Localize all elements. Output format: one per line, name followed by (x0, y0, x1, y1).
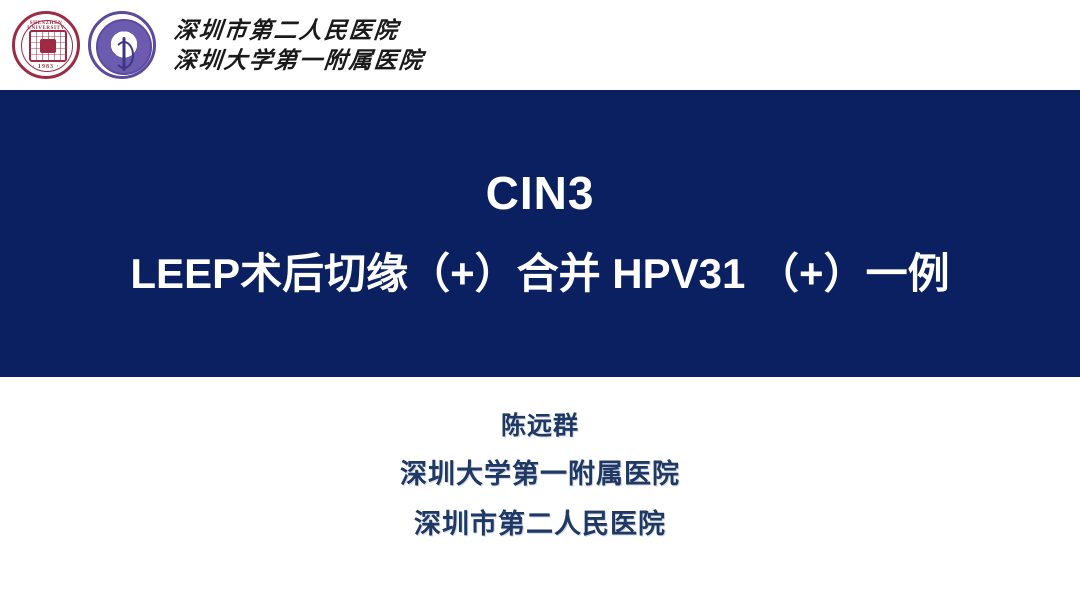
shenzhen-university-seal-icon: SHENZHEN UNIVERSITY · 1983 · (12, 11, 80, 79)
author-affiliation-2: 深圳市第二人民医院 (414, 505, 666, 543)
calligraphy-line-2: 深圳大学第一附属医院 (173, 47, 426, 75)
author-affiliation-1: 深圳大学第一附属医院 (400, 455, 680, 493)
calligraphy-line-1: 深圳市第二人民医院 (173, 17, 426, 45)
title-banner: CIN3 LEEP术后切缘（+）合并 HPV31 （+）一例 (0, 90, 1080, 377)
hospital-seal-inner-ring (96, 19, 152, 75)
seal-arc-bottom-text: · 1983 · (15, 64, 77, 70)
asclepius-snake-icon (114, 41, 134, 69)
slide-title-main: CIN3 (486, 164, 595, 222)
seal-emblem-glyph (29, 30, 67, 62)
author-name: 陈远群 (501, 409, 579, 443)
author-block: 陈远群 深圳大学第一附属医院 深圳市第二人民医院 (0, 377, 1080, 608)
slide-title-sub: LEEP术后切缘（+）合并 HPV31 （+）一例 (130, 244, 949, 304)
hospital-seal-icon (88, 11, 156, 79)
hospital-name-calligraphy: 深圳市第二人民医院 深圳大学第一附属医院 (174, 15, 424, 75)
slide-header: SHENZHEN UNIVERSITY · 1983 · 深圳市第二人民医院 深… (0, 0, 1080, 90)
presentation-title-slide: SHENZHEN UNIVERSITY · 1983 · 深圳市第二人民医院 深… (0, 0, 1080, 608)
